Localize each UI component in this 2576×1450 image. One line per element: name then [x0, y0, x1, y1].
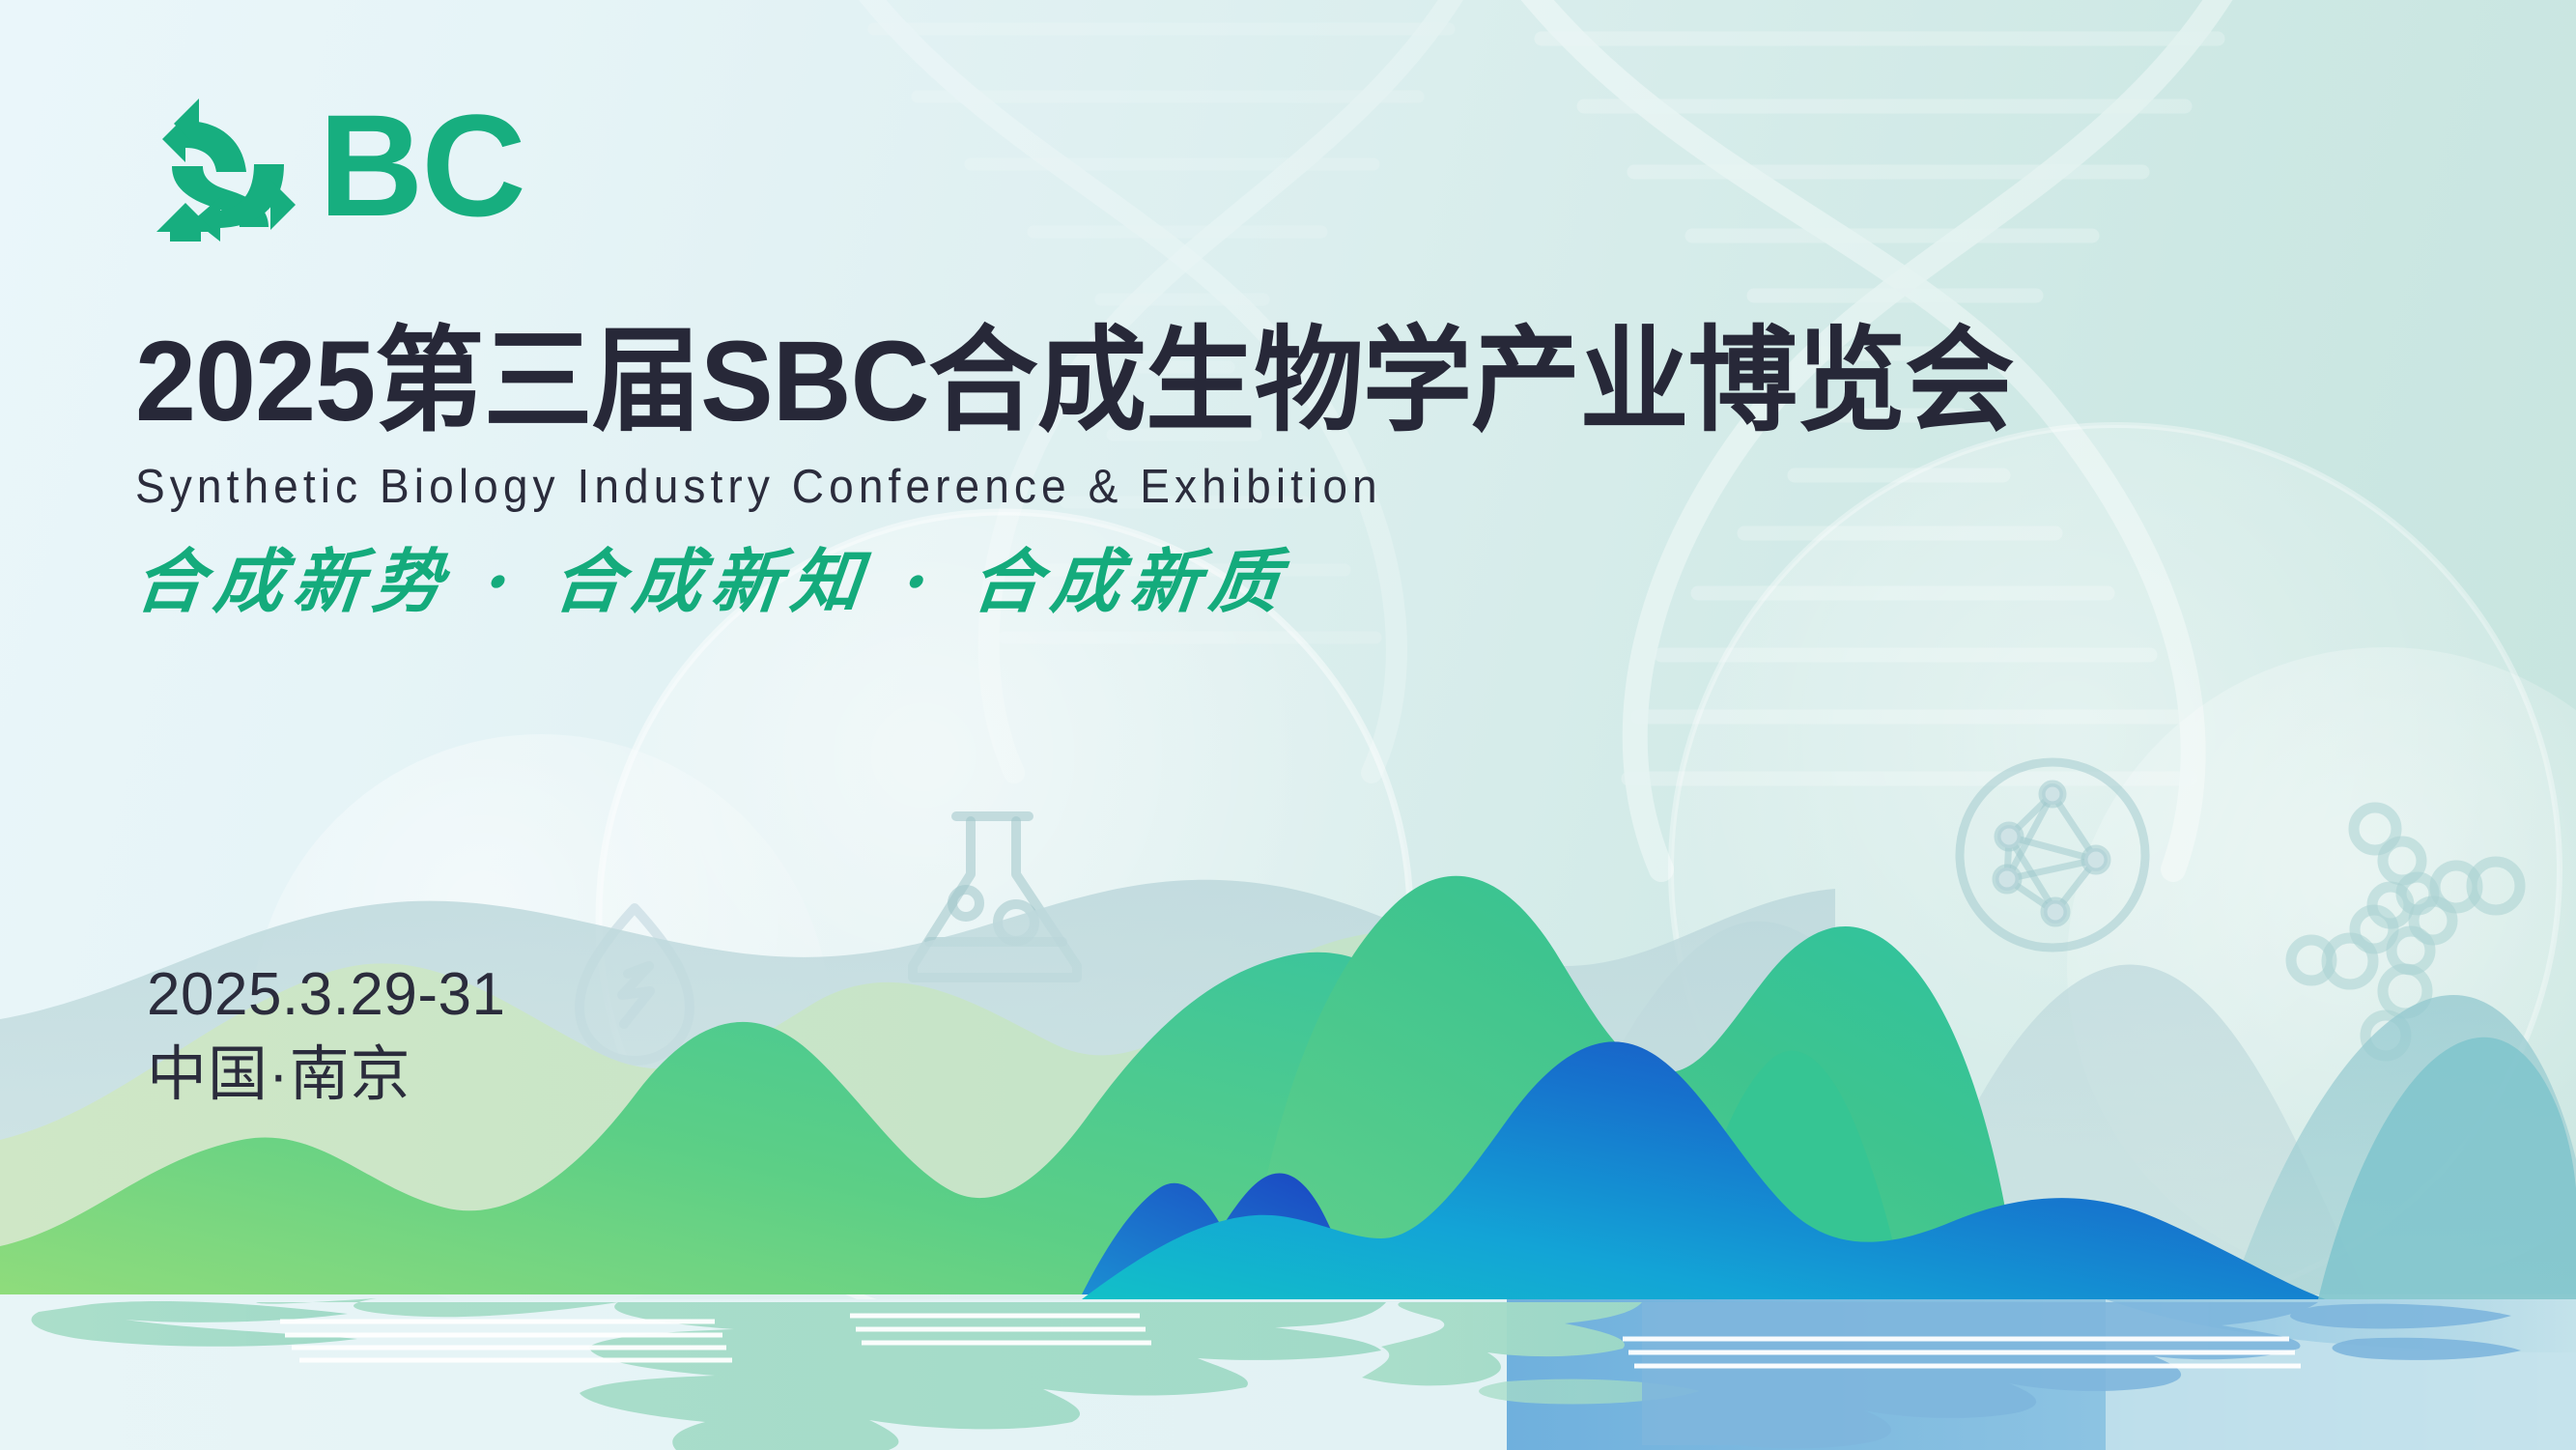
mountain-haze-right — [1516, 922, 2048, 1294]
water-reflection-blue — [1642, 1302, 2521, 1448]
event-location: 中国·南京 — [147, 1038, 505, 1113]
mountain-haze-right-2 — [1893, 965, 2366, 1294]
event-details: 2025.3.29-31 中国·南京 — [147, 959, 505, 1113]
brand-logo[interactable]: BC — [143, 89, 524, 242]
event-date: 2025.3.29-31 — [147, 959, 505, 1030]
event-slogan: 合成新势 · 合成新知 · 合成新质 — [131, 543, 1293, 619]
sbc-recycle-s-logo-icon — [143, 89, 326, 242]
flask-icon — [913, 816, 1077, 978]
conference-banner: BC 2025第三届SBC合成生物学产业博览会 Synthetic Biolog… — [0, 0, 2576, 1450]
mountain-tall-green — [1246, 876, 2019, 1294]
mountain-blue-small — [1082, 1173, 1352, 1294]
logo-wordmark: BC — [319, 93, 524, 238]
water-base-right-fade — [2106, 1299, 2576, 1450]
mountain-haze-teal-far — [2231, 995, 2576, 1294]
mountain-teal-right — [2318, 1038, 2576, 1299]
bubble-cluster-icon — [2291, 808, 2520, 1056]
water-surface-lines — [280, 1316, 2301, 1366]
water-reflection-green — [32, 1298, 1701, 1450]
english-subtitle: Synthetic Biology Industry Conference & … — [135, 464, 1382, 511]
mountain-blue-main — [1082, 1041, 2347, 1314]
leaf-drop-energy-icon — [580, 908, 690, 1061]
page-title: 2025第三届SBC合成生物学产业博览会 — [135, 323, 2014, 442]
water-base-right — [1507, 1299, 2576, 1450]
mountain-small-green-right — [1681, 1051, 1903, 1294]
molecule-network-icon — [1960, 762, 2145, 948]
water-base — [0, 1299, 2576, 1450]
